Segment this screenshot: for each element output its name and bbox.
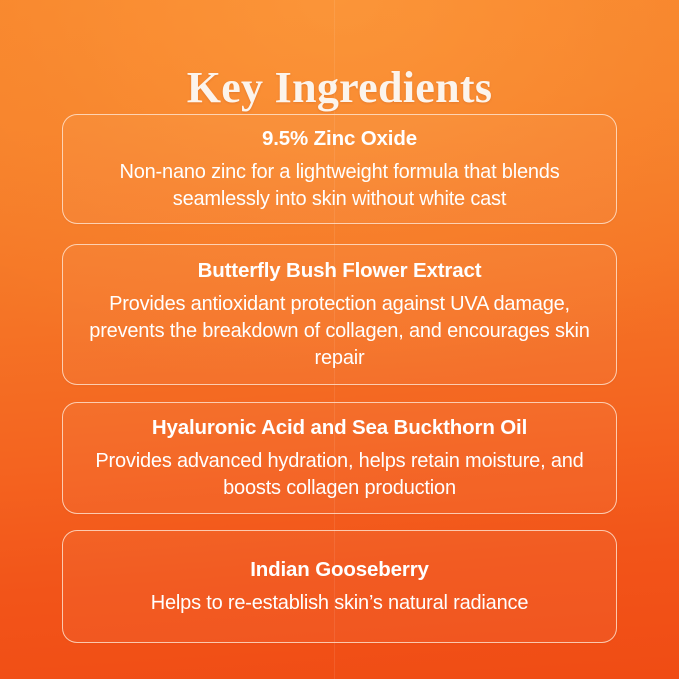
ingredient-card: Hyaluronic Acid and Sea Buckthorn Oil Pr…: [62, 402, 617, 514]
page-title: Key Ingredients: [0, 62, 679, 114]
ingredient-name: 9.5% Zinc Oxide: [262, 126, 417, 152]
ingredient-description: Helps to re-establish skin’s natural rad…: [151, 590, 529, 617]
ingredient-card: 9.5% Zinc Oxide Non-nano zinc for a ligh…: [62, 114, 617, 224]
ingredient-description: Provides advanced hydration, helps retai…: [85, 448, 595, 502]
ingredient-name: Hyaluronic Acid and Sea Buckthorn Oil: [152, 415, 527, 441]
ingredient-card: Indian Gooseberry Helps to re-establish …: [62, 530, 617, 643]
ingredient-card: Butterfly Bush Flower Extract Provides a…: [62, 244, 617, 385]
ingredient-description: Provides antioxidant protection against …: [85, 291, 595, 372]
ingredient-name: Butterfly Bush Flower Extract: [198, 258, 482, 284]
key-ingredients-poster: Key Ingredients 9.5% Zinc Oxide Non-nano…: [0, 0, 679, 679]
ingredient-name: Indian Gooseberry: [250, 557, 429, 583]
ingredient-description: Non-nano zinc for a lightweight formula …: [85, 159, 595, 213]
